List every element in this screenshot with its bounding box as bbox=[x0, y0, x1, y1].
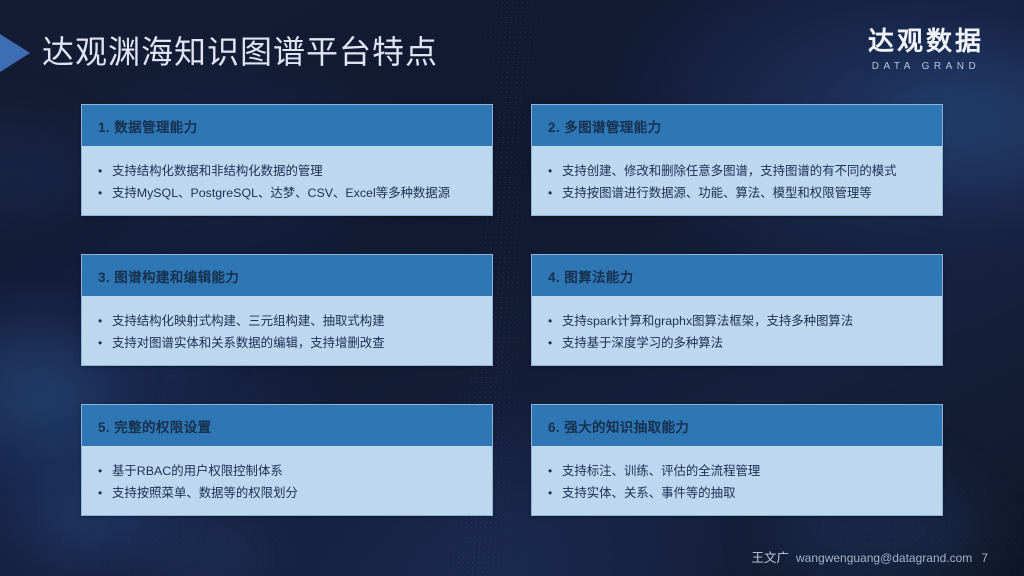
feature-card-body: • 支持结构化数据和非结构化数据的管理 • 支持MySQL、PostgreSQL… bbox=[82, 146, 492, 215]
feature-card-title: 2. 多图谱管理能力 bbox=[548, 116, 662, 136]
bullet-icon: • bbox=[548, 482, 562, 504]
page-number: 7 bbox=[981, 551, 988, 565]
list-item: • 支持创建、修改和删除任意多图谱，支持图谱的有不同的模式 bbox=[548, 160, 930, 182]
bullet-icon: • bbox=[98, 460, 112, 482]
list-item: • 支持基于深度学习的多种算法 bbox=[548, 332, 930, 354]
feature-card-header: 1. 数据管理能力 bbox=[82, 105, 492, 146]
list-item-text: 支持实体、关系、事件等的抽取 bbox=[562, 482, 930, 504]
bullet-icon: • bbox=[548, 460, 562, 482]
feature-card-title: 4. 图算法能力 bbox=[548, 266, 634, 286]
feature-card-body: • 基于RBAC的用户权限控制体系 • 支持按照菜单、数据等的权限划分 bbox=[82, 446, 492, 515]
feature-card-grid: 1. 数据管理能力 • 支持结构化数据和非结构化数据的管理 • 支持MySQL、… bbox=[81, 104, 943, 516]
list-item: • 支持按照菜单、数据等的权限划分 bbox=[98, 482, 480, 504]
list-item-text: 支持按照菜单、数据等的权限划分 bbox=[112, 482, 480, 504]
feature-card-body: • 支持结构化映射式构建、三元组构建、抽取式构建 • 支持对图谱实体和关系数据的… bbox=[82, 296, 492, 365]
list-item: • 支持结构化数据和非结构化数据的管理 bbox=[98, 160, 480, 182]
feature-card-header: 5. 完整的权限设置 bbox=[82, 405, 492, 446]
page-title: 达观渊海知识图谱平台特点 bbox=[42, 28, 438, 76]
list-item-text: 支持spark计算和graphx图算法框架，支持多种图算法 bbox=[562, 310, 930, 332]
list-item-text: 支持标注、训练、评估的全流程管理 bbox=[562, 460, 930, 482]
bullet-icon: • bbox=[98, 160, 112, 182]
feature-card-3[interactable]: 3. 图谱构建和编辑能力 • 支持结构化映射式构建、三元组构建、抽取式构建 • … bbox=[81, 254, 493, 366]
feature-card-2[interactable]: 2. 多图谱管理能力 • 支持创建、修改和删除任意多图谱，支持图谱的有不同的模式… bbox=[531, 104, 943, 216]
feature-card-title: 1. 数据管理能力 bbox=[98, 116, 198, 136]
list-item: • 支持结构化映射式构建、三元组构建、抽取式构建 bbox=[98, 310, 480, 332]
background-bokeh bbox=[0, 120, 80, 230]
feature-card-title: 6. 强大的知识抽取能力 bbox=[548, 416, 689, 436]
bullet-icon: • bbox=[98, 182, 112, 204]
triangle-right-icon bbox=[0, 34, 30, 72]
bullet-icon: • bbox=[548, 182, 562, 204]
feature-card-body: • 支持创建、修改和删除任意多图谱，支持图谱的有不同的模式 • 支持按图谱进行数… bbox=[532, 146, 942, 215]
feature-card-body: • 支持spark计算和graphx图算法框架，支持多种图算法 • 支持基于深度… bbox=[532, 296, 942, 365]
bullet-icon: • bbox=[98, 310, 112, 332]
feature-card-title: 3. 图谱构建和编辑能力 bbox=[98, 266, 239, 286]
feature-card-4[interactable]: 4. 图算法能力 • 支持spark计算和graphx图算法框架，支持多种图算法… bbox=[531, 254, 943, 366]
list-item-text: 支持创建、修改和删除任意多图谱，支持图谱的有不同的模式 bbox=[562, 160, 930, 182]
list-item: • 支持spark计算和graphx图算法框架，支持多种图算法 bbox=[548, 310, 930, 332]
footer-email: wangwenguang@datagrand.com bbox=[796, 551, 972, 565]
feature-card-header: 6. 强大的知识抽取能力 bbox=[532, 405, 942, 446]
feature-card-title: 5. 完整的权限设置 bbox=[98, 416, 212, 436]
bullet-icon: • bbox=[548, 310, 562, 332]
list-item: • 基于RBAC的用户权限控制体系 bbox=[98, 460, 480, 482]
feature-card-6[interactable]: 6. 强大的知识抽取能力 • 支持标注、训练、评估的全流程管理 • 支持实体、关… bbox=[531, 404, 943, 516]
feature-card-body: • 支持标注、训练、评估的全流程管理 • 支持实体、关系、事件等的抽取 bbox=[532, 446, 942, 515]
feature-card-1[interactable]: 1. 数据管理能力 • 支持结构化数据和非结构化数据的管理 • 支持MySQL、… bbox=[81, 104, 493, 216]
background-bokeh bbox=[150, 520, 270, 576]
brand-logo: 达观数据 DATA GRAND bbox=[868, 26, 984, 75]
slide-root: 达观渊海知识图谱平台特点 达观数据 DATA GRAND 1. 数据管理能力 •… bbox=[0, 0, 1024, 576]
list-item: • 支持实体、关系、事件等的抽取 bbox=[548, 482, 930, 504]
list-item-text: 支持按图谱进行数据源、功能、算法、模型和权限管理等 bbox=[562, 182, 930, 204]
footer-author: 王文广 bbox=[751, 547, 789, 566]
list-item: • 支持标注、训练、评估的全流程管理 bbox=[548, 460, 930, 482]
list-item-text: 支持MySQL、PostgreSQL、达梦、CSV、Excel等多种数据源 bbox=[112, 182, 480, 204]
bullet-icon: • bbox=[548, 332, 562, 354]
brand-logo-cn: 达观数据 bbox=[868, 26, 984, 56]
bullet-icon: • bbox=[98, 332, 112, 354]
list-item-text: 支持结构化映射式构建、三元组构建、抽取式构建 bbox=[112, 310, 480, 332]
list-item: • 支持MySQL、PostgreSQL、达梦、CSV、Excel等多种数据源 bbox=[98, 182, 480, 204]
list-item-text: 支持基于深度学习的多种算法 bbox=[562, 332, 930, 354]
list-item-text: 支持结构化数据和非结构化数据的管理 bbox=[112, 160, 480, 182]
brand-logo-en: DATA GRAND bbox=[868, 59, 984, 75]
list-item: • 支持对图谱实体和关系数据的编辑，支持增删改查 bbox=[98, 332, 480, 354]
feature-card-header: 3. 图谱构建和编辑能力 bbox=[82, 255, 492, 296]
bullet-icon: • bbox=[548, 160, 562, 182]
feature-card-5[interactable]: 5. 完整的权限设置 • 基于RBAC的用户权限控制体系 • 支持按照菜单、数据… bbox=[81, 404, 493, 516]
list-item: • 支持按图谱进行数据源、功能、算法、模型和权限管理等 bbox=[548, 182, 930, 204]
list-item-text: 支持对图谱实体和关系数据的编辑，支持增删改查 bbox=[112, 332, 480, 354]
list-item-text: 基于RBAC的用户权限控制体系 bbox=[112, 460, 480, 482]
bullet-icon: • bbox=[98, 482, 112, 504]
slide-footer: 王文广 wangwenguang@datagrand.com 7 bbox=[751, 547, 988, 566]
feature-card-header: 4. 图算法能力 bbox=[532, 255, 942, 296]
feature-card-header: 2. 多图谱管理能力 bbox=[532, 105, 942, 146]
